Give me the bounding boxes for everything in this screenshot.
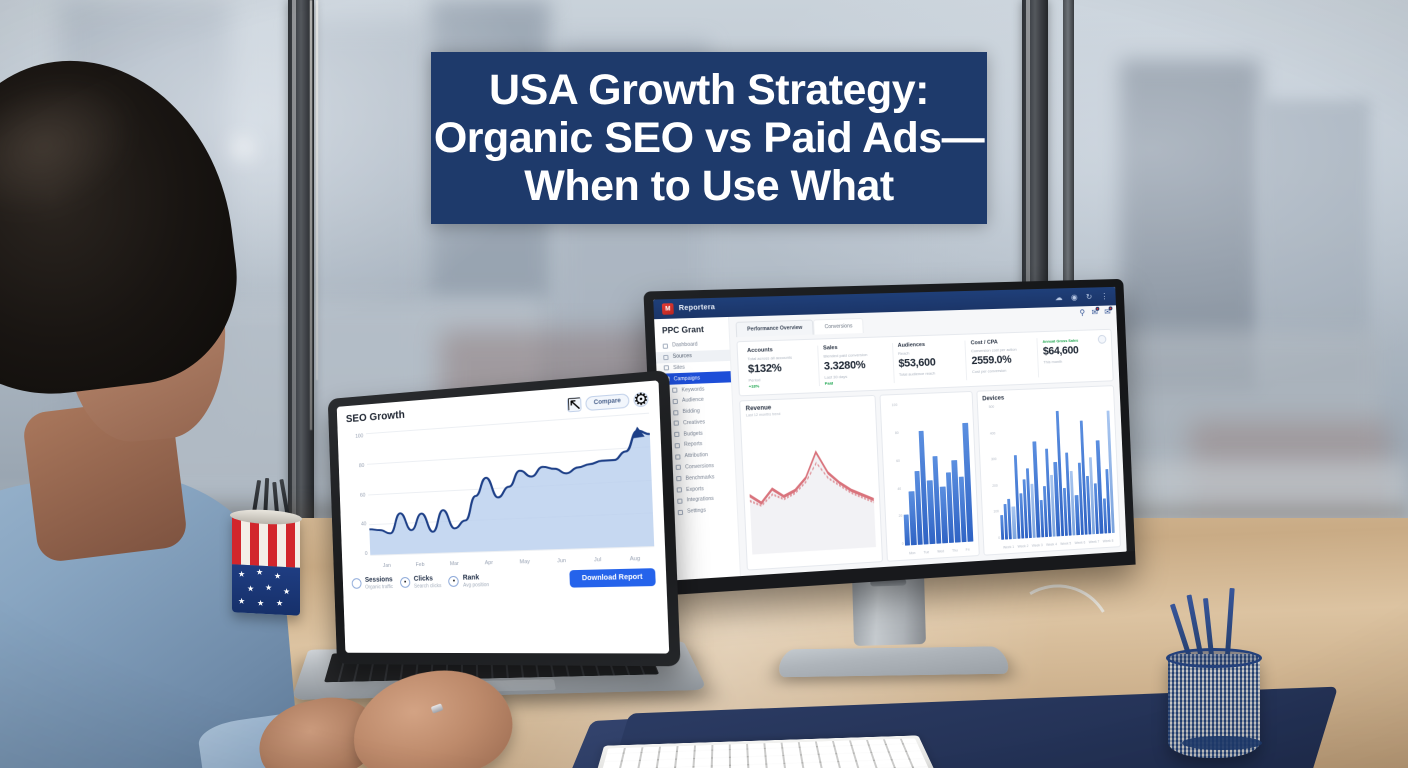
title-line-2: Organic SEO vs Paid Ads— [434, 114, 984, 162]
x-tick: Fri [966, 548, 970, 552]
kpi-subtitle: Total across all accounts [747, 354, 812, 362]
laptop-lid: SEO Growth ⇱ Compare ⚙ 1008060400 [328, 370, 681, 666]
kpi-subtitle: Annual Gross Sales [1042, 337, 1102, 344]
page-title: SEO Growth [346, 409, 405, 425]
sidebar-item-label: Campaigns [674, 375, 701, 382]
bar-plot-area: 100806040200 MonTueWedThuFri [885, 400, 973, 555]
x-tick: Week 3 [1032, 543, 1043, 548]
kpi-change: +18% [749, 382, 814, 390]
kpi-card-sales: Sales Blended paid conversion 3.3280% La… [818, 343, 894, 386]
y-tick: 0 [988, 536, 1000, 541]
stat-label: Clicks [414, 575, 442, 582]
x-tick: Jul [594, 557, 602, 563]
kpi-value: 3.3280% [824, 359, 888, 373]
devices-bar-chart-card: Devices 5004003002001000 Week 1Week 2Wee… [976, 385, 1121, 555]
bar-series [898, 400, 973, 545]
y-tick: 400 [984, 431, 996, 435]
laptop: SEO Growth ⇱ Compare ⚙ 1008060400 [300, 385, 690, 685]
kpi-subtitle: Reach [898, 349, 961, 357]
monitor-stand-base [775, 646, 1013, 677]
person-at-desk [0, 60, 290, 768]
seo-area-svg [366, 413, 654, 555]
x-axis-labels: Week 1Week 2Week 3Week 4Week 5Week 6Week… [1001, 539, 1115, 550]
x-axis-labels: JanFebMarAprMayJunJulAug [371, 556, 655, 570]
kpi-delta-label: Cost per conversion [972, 367, 1033, 374]
y-tick: 200 [986, 484, 998, 489]
seo-growth-chart: 1008060400 JanFebMarAprMayJunJulAug [346, 413, 654, 568]
y-tick: 80 [887, 431, 899, 436]
title-line-1: USA Growth Strategy: [489, 66, 929, 114]
blind-cord [310, 0, 312, 430]
stat-rank: · Rank Avg position [448, 574, 489, 589]
search-icon[interactable]: ⚲ [1079, 309, 1085, 317]
y-tick: 20 [890, 514, 902, 519]
kpi-change: Paid [825, 379, 889, 387]
notifications-icon[interactable]: ✉ [1104, 308, 1111, 316]
revenue-line-chart-card: Revenue Last 12 months trend [739, 395, 882, 570]
sidebar-item-label: Dashboard [672, 342, 698, 349]
monitor-cable [1000, 573, 1125, 671]
export-icon[interactable]: ⇱ [567, 397, 582, 412]
circle-icon [352, 578, 362, 589]
x-tick: Tue [924, 550, 930, 554]
brand-logo-icon: M [662, 303, 674, 315]
kpi-value: $53,600 [898, 356, 961, 370]
y-tick: 0 [892, 542, 904, 547]
main-content: Performance Overview Conversions Account… [729, 305, 1127, 576]
topbar-icons: ☁ ◉ ↻ ⋮ [1055, 292, 1109, 301]
sidebar-item-label: Sites [673, 365, 685, 372]
x-tick: Week 4 [1046, 542, 1057, 547]
monitor-bezel: M Reportera ☁ ◉ ↻ ⋮ ⚲ ✉ ✉ [643, 279, 1135, 596]
title-banner: USA Growth Strategy: Organic SEO vs Paid… [431, 52, 987, 224]
external-monitor: M Reportera ☁ ◉ ↻ ⋮ ⚲ ✉ ✉ [655, 285, 1145, 705]
y-tick: 300 [985, 458, 997, 463]
monitor-stand-neck [852, 572, 926, 646]
kpi-title: Cost / CPA [971, 338, 1032, 346]
y-tick: 40 [889, 486, 901, 491]
kpi-value: 2559.0% [971, 353, 1033, 367]
y-tick: 80 [348, 463, 365, 470]
kpi-card-audiences: Audiences Reach $53,600 Total audience r… [893, 341, 968, 384]
kpi-card-accounts: Accounts Total across all accounts $132%… [742, 346, 820, 390]
x-axis-labels: MonTueWedThuFri [905, 547, 974, 555]
x-tick: Week 1 [1003, 545, 1014, 550]
kpi-value: $132% [748, 361, 813, 376]
laptop-screen: SEO Growth ⇱ Compare ⚙ 1008060400 [337, 380, 670, 653]
devices-plot-area: 5004003002001000 Week 1Week 2Week 3Week … [983, 400, 1116, 549]
y-tick: 500 [983, 405, 995, 409]
monitor-screen: M Reportera ☁ ◉ ↻ ⋮ ⚲ ✉ ✉ [653, 287, 1126, 581]
sidebar-item-label: Integrations [687, 496, 714, 504]
kpi-subtitle: Conversion cost per action [971, 346, 1032, 353]
target-icon: · [449, 575, 460, 586]
brand-name: Reportera [679, 304, 716, 312]
x-tick: Week 6 [1074, 541, 1085, 546]
flag-cup-body: ★ ★ ★ ★ ★ ★ ★ ★ ★ [232, 512, 300, 616]
plot-area: JanFebMarAprMayJunJulAug [366, 413, 655, 568]
gear-icon[interactable]: ⚙ [633, 392, 648, 408]
tab-conversions[interactable]: Conversions [813, 318, 864, 335]
y-tick: 0 [351, 551, 368, 557]
y-tick: 100 [346, 433, 363, 440]
chart-row: Revenue Last 12 months trend 1008 [739, 385, 1121, 570]
mesh-cup-rim [1166, 648, 1262, 668]
menu-icon[interactable]: ⋮ [1101, 292, 1109, 300]
usa-flag-pencil-cup: ★ ★ ★ ★ ★ ★ ★ ★ ★ [222, 500, 310, 618]
x-tick: Aug [630, 556, 641, 563]
stat-sub: Organic traffic [365, 584, 393, 590]
bar-series [995, 400, 1115, 540]
clock-icon: · [400, 576, 410, 587]
x-tick: May [520, 559, 531, 565]
x-tick: Mar [450, 561, 459, 567]
kpi-title: Accounts [747, 346, 812, 354]
kpi-delta-label: Total audience reach [899, 370, 962, 377]
x-tick: Feb [416, 562, 425, 568]
ring [431, 703, 444, 713]
x-tick: Wed [937, 549, 944, 553]
seo-growth-app: SEO Growth ⇱ Compare ⚙ 1008060400 [337, 380, 670, 653]
y-tick: 60 [349, 492, 366, 499]
blog-header-scene: USA Growth Strategy: Organic SEO vs Paid… [0, 0, 1408, 768]
mesh-cup-body [1168, 654, 1260, 758]
weekly-bar-chart-card: 100806040200 MonTueWedThuFri [879, 391, 979, 562]
stat-sessions: Sessions Organic traffic [352, 576, 394, 590]
kpi-value: $64,600 [1043, 344, 1104, 358]
stat-label: Rank [463, 574, 489, 582]
kpi-card-cost: Cost / CPA Conversion cost per action 25… [966, 338, 1040, 380]
download-report-button[interactable]: Download Report [569, 568, 655, 587]
stat-clicks: · Clicks Search clicks [400, 575, 442, 590]
stat-sub: Avg position [463, 582, 489, 588]
chart-toolbar: ⇱ Compare ⚙ [567, 392, 649, 413]
y-tick: 40 [350, 522, 367, 528]
stat-label: Sessions [365, 576, 393, 583]
revenue-line-svg [746, 416, 876, 555]
kpi-card-row: Accounts Total across all accounts $132%… [736, 329, 1113, 397]
compare-button[interactable]: Compare [585, 393, 629, 411]
x-tick: Jun [557, 558, 566, 564]
blind-cord-2 [316, 0, 318, 380]
tab-performance-overview[interactable]: Performance Overview [736, 319, 814, 337]
x-tick: Jan [383, 563, 391, 569]
y-tick: 100 [987, 510, 999, 515]
dashboard-app: M Reportera ☁ ◉ ↻ ⋮ ⚲ ✉ ✉ [653, 287, 1126, 581]
kpi-title: Sales [823, 343, 887, 351]
history-icon[interactable]: ↻ [1086, 293, 1093, 301]
sidebar-item-label: Sources [673, 353, 692, 360]
title-line-3: When to Use What [524, 162, 893, 210]
stats-row: Sessions Organic traffic · Clicks Search… [351, 568, 655, 592]
action-icon-bar: ⚲ ✉ ✉ [1079, 308, 1110, 317]
x-tick: Apr [485, 560, 493, 566]
x-tick: Week 5 [1060, 541, 1071, 546]
kpi-delta-label: This month [1043, 357, 1103, 364]
x-tick: Mon [909, 551, 916, 555]
y-tick: 60 [888, 459, 900, 464]
kpi-title: Audiences [898, 341, 961, 349]
line-plot-area [746, 416, 876, 565]
user-icon[interactable]: ◉ [1071, 293, 1078, 301]
x-tick: Week 8 [1103, 539, 1114, 544]
kpi-subtitle: Blended paid conversion [823, 351, 887, 359]
x-tick: Week 2 [1017, 544, 1028, 549]
cloud-icon[interactable]: ☁ [1055, 294, 1063, 302]
inbox-icon[interactable]: ✉ [1091, 309, 1098, 317]
stat-sub: Search clicks [414, 583, 442, 589]
x-tick: Week 7 [1089, 540, 1100, 545]
blue-mesh-pencil-cup [1160, 620, 1270, 768]
y-tick: 100 [885, 403, 897, 408]
x-tick: Thu [952, 548, 958, 552]
